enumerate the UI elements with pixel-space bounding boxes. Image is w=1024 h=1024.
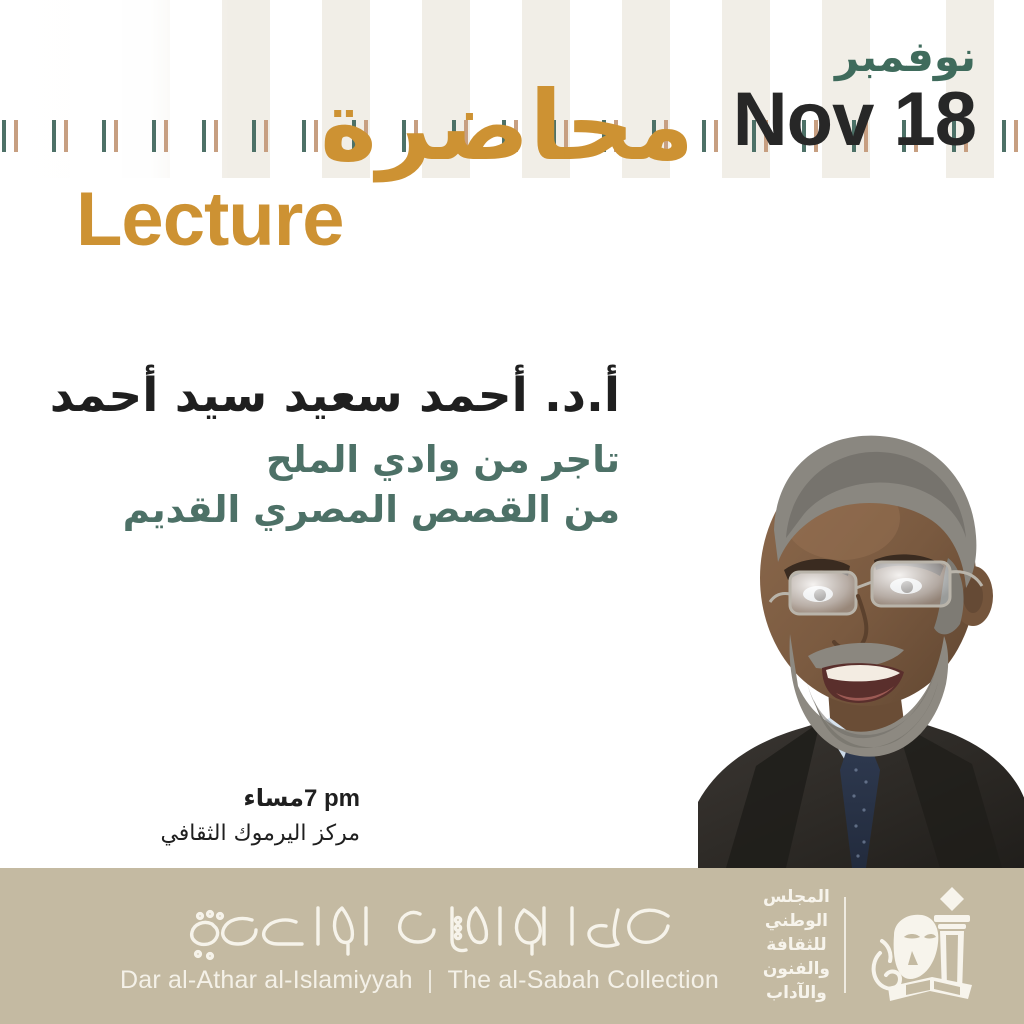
tick-tan [714,120,718,152]
kicker-english: Lecture [76,182,344,258]
tick-tan [114,120,118,152]
nccal-line-3: للثقافة [763,933,830,957]
tick-green [1002,120,1006,152]
dar-al-athar-logo-arabic [120,886,680,968]
tick-mark-pair [0,120,50,152]
nccal-emblem-icon [860,881,990,1009]
date-month-arabic: نوفمبر [733,36,976,78]
tick-green [102,120,106,152]
tick-green [202,120,206,152]
dar-al-athar-latin-text: Dar al-Athar al-Islamiyyah|The al-Sabah … [120,966,680,995]
speaker-name: أ.د. أحمد سعيد سيد أحمد [60,368,620,423]
talk-title-line-1: تاجر من وادي الملح [60,435,620,485]
footer-bar: Dar al-Athar al-Islamiyyah|The al-Sabah … [0,868,1024,1024]
event-time: 7 pmمساء [60,782,360,815]
event-poster: محاضرة نوفمبر Nov 18 Lecture أ.د. أحمد س… [0,0,1024,1024]
nccal-logo: المجلسالوطنيللثقافةوالفنونوالآداب [720,880,990,1010]
tick-mark-pair [150,120,200,152]
tick-tan [164,120,168,152]
tick-mark-pair [200,120,250,152]
tick-tan [14,120,18,152]
talk-title-line-2: من القصص المصري القديم [60,485,620,535]
tick-green [152,120,156,152]
nccal-line-5: والآداب [763,981,830,1005]
date-english: Nov 18 [733,82,976,158]
tick-mark-pair [100,120,150,152]
dai-name-right: The al-Sabah Collection [448,966,719,994]
nccal-arabic-lines: المجلسالوطنيللثقافةوالفنونوالآداب [763,885,830,1006]
tick-green [302,120,306,152]
nccal-line-1: المجلس [763,885,830,909]
tick-tan [264,120,268,152]
tick-tan [1014,120,1018,152]
tick-mark-pair [250,120,300,152]
tick-green [2,120,6,152]
event-time-english: 7 pm [304,783,360,815]
tick-green [252,120,256,152]
kicker-arabic: محاضرة [320,78,694,174]
date-block: نوفمبر Nov 18 [733,36,976,158]
event-details-block: 7 pmمساء مركز اليرموك الثقافي [60,782,360,849]
tick-tan [214,120,218,152]
tick-tan [64,120,68,152]
event-venue: مركز اليرموك الثقافي [60,819,360,849]
tick-mark-pair [50,120,100,152]
tick-mark-pair [1000,120,1024,152]
speaker-block: أ.د. أحمد سعيد سيد أحمد تاجر من وادي الم… [60,368,620,535]
tick-tan [314,120,318,152]
tick-green [702,120,706,152]
nccal-line-2: الوطني [763,909,830,933]
nccal-divider-rule [844,897,846,993]
dai-name-left: Dar al-Athar al-Islamiyyah [120,966,413,994]
tick-green [52,120,56,152]
speaker-portrait-photo [690,410,1024,868]
event-time-arabic: مساء [243,784,304,812]
nccal-line-4: والفنون [763,957,830,981]
dai-separator: | [413,966,448,994]
